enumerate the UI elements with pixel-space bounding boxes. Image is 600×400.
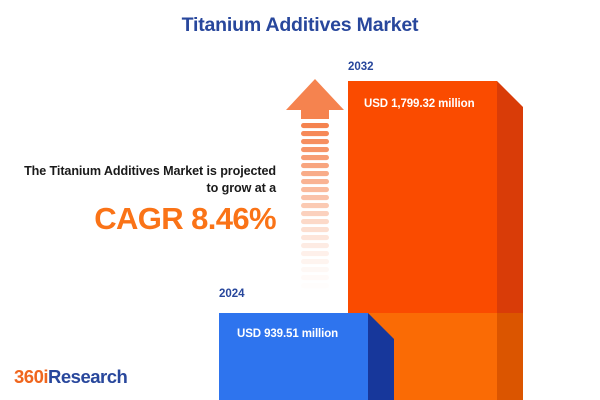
page-title: Titanium Additives Market	[0, 14, 600, 37]
brand-logo: 360iResearch	[14, 366, 127, 388]
cagr-description: The Titanium Additives Market is project…	[12, 163, 276, 197]
bar-2024	[219, 313, 394, 400]
bar-2024-year-label: 2024	[219, 288, 245, 300]
cagr-callout: The Titanium Additives Market is project…	[12, 163, 276, 237]
bar-2024-value-label: USD 939.51 million	[237, 328, 338, 340]
brand-logo-prefix: 360i	[14, 366, 48, 387]
bar-2032-value-label: USD 1,799.32 million	[364, 98, 475, 110]
infographic-canvas: Titanium Additives Market	[0, 0, 600, 400]
bar-2032-year-label: 2032	[348, 61, 374, 73]
up-arrow-icon	[284, 78, 346, 293]
brand-logo-suffix: Research	[48, 366, 127, 387]
cagr-value: CAGR 8.46%	[12, 201, 276, 237]
